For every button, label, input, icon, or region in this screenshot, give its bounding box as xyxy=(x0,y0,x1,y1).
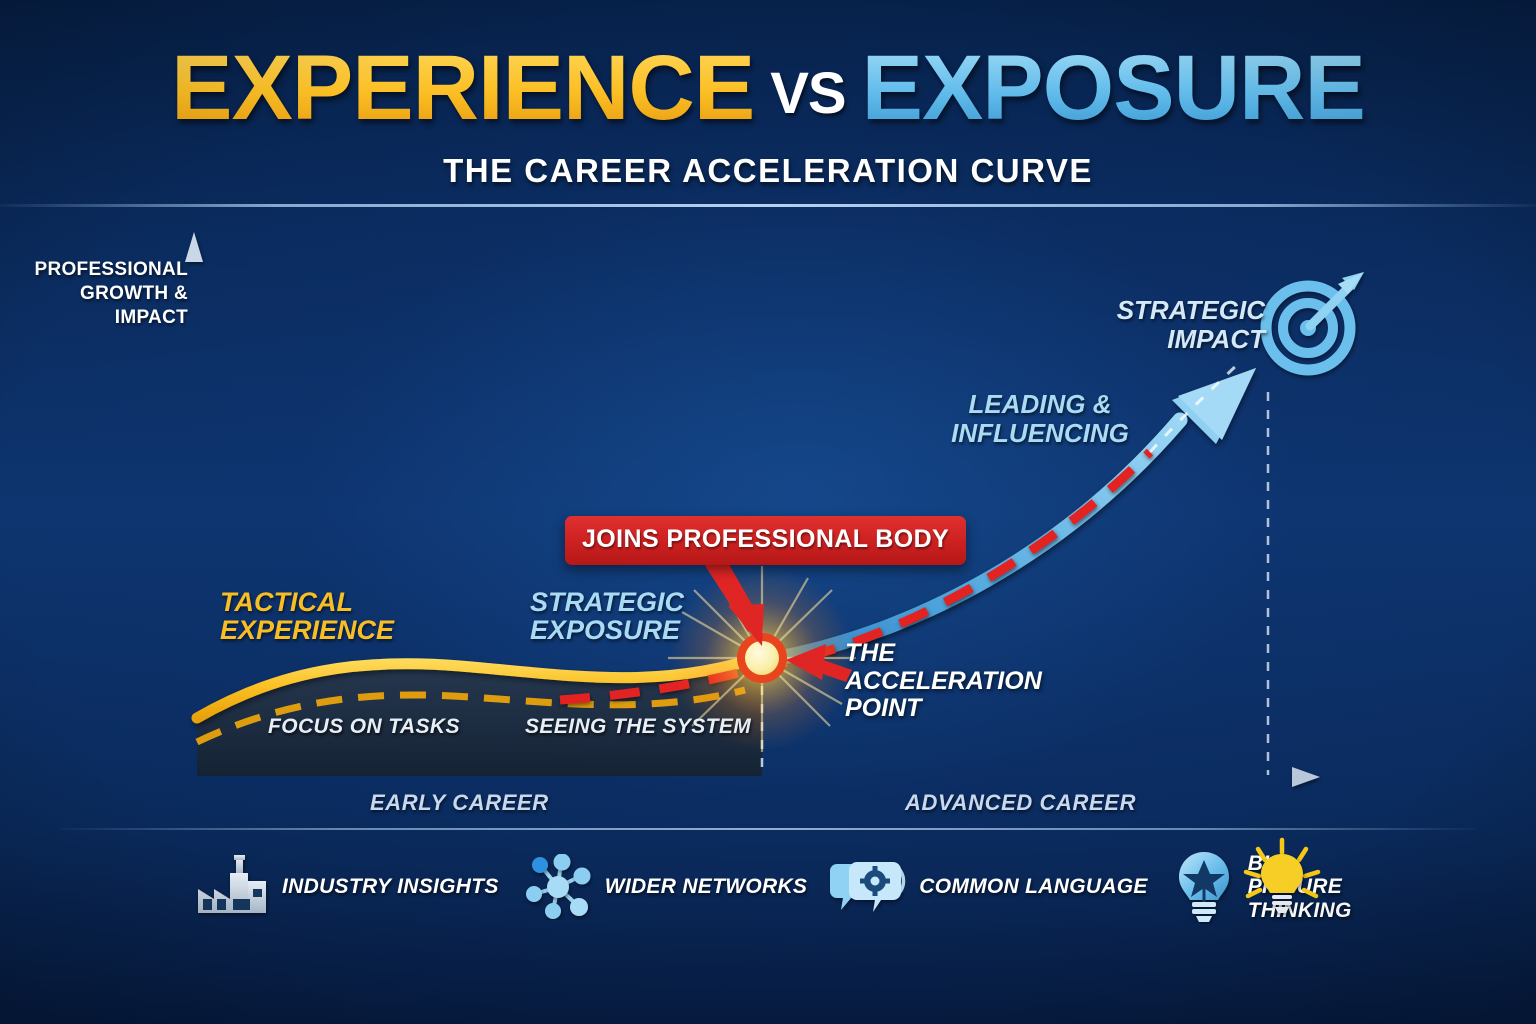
footer-divider xyxy=(60,828,1476,830)
label-tactical-experience: TACTICAL EXPERIENCE xyxy=(220,588,450,645)
label-focus-on-tasks: FOCUS ON TASKS xyxy=(268,715,460,739)
benefit-label-common-language: COMMON LANGUAGE xyxy=(919,875,1148,899)
benefit-industry-insights[interactable]: INDUSTRY INSIGHTS xyxy=(196,855,499,919)
lightbulb-star-icon xyxy=(1172,850,1236,924)
speech-bubbles-gear-icon xyxy=(829,858,907,916)
lightbulb-idea-icon xyxy=(1236,836,1328,928)
benefit-label-industry-insights: INDUSTRY INSIGHTS xyxy=(282,875,499,899)
label-strategic-impact: STRATEGIC IMPACT xyxy=(1085,296,1265,353)
benefit-common-language[interactable]: COMMON LANGUAGE xyxy=(829,858,1148,916)
benefit-label-wider-networks: WIDER NETWORKS xyxy=(605,875,808,899)
x-axis-label-early-career: EARLY CAREER xyxy=(370,790,549,816)
callout-label: JOINS PROFESSIONAL BODY xyxy=(582,525,949,554)
network-nodes-icon xyxy=(523,854,593,920)
benefits-footer: INDUSTRY INSIGHTS xyxy=(0,828,1536,1024)
label-leading-influencing: LEADING & INFLUENCING xyxy=(950,390,1130,447)
x-axis-label-advanced-career: ADVANCED CAREER xyxy=(905,790,1136,816)
label-acceleration-point: THE ACCELERATION POINT xyxy=(845,640,1025,723)
factory-icon xyxy=(196,855,270,919)
target-bullseye-icon xyxy=(1266,272,1364,370)
joins-professional-body-callout[interactable]: JOINS PROFESSIONAL BODY xyxy=(565,516,966,565)
label-seeing-the-system: SEEING THE SYSTEM xyxy=(525,715,751,739)
benefits-list: INDUSTRY INSIGHTS xyxy=(196,850,1356,924)
benefit-wider-networks[interactable]: WIDER NETWORKS xyxy=(523,854,808,920)
y-axis-label: PROFESSIONAL GROWTH & IMPACT xyxy=(18,258,188,329)
label-strategic-exposure: STRATEGIC EXPOSURE xyxy=(530,588,760,645)
